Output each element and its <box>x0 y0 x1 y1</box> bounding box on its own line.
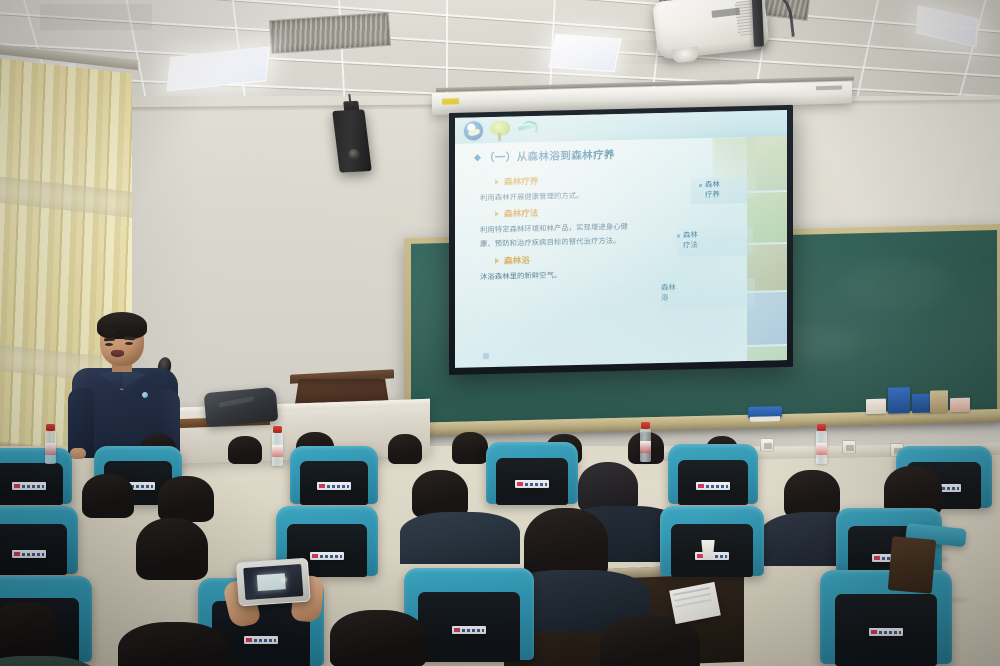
chalk-box-blue-tall[interactable] <box>888 387 910 414</box>
green-tree-icon <box>487 120 512 141</box>
slide-title: （一）从森林浴到森林疗养 <box>484 147 615 165</box>
seat-number-label <box>244 636 278 644</box>
attendee-head <box>452 432 488 464</box>
seat-number-label <box>696 482 730 490</box>
smartphone-screen <box>243 564 303 600</box>
projector-cable <box>756 0 795 40</box>
housing-brand-mark <box>816 86 842 91</box>
attendee-head <box>388 434 422 464</box>
slide-heading-2: 森林疗法 <box>495 207 538 220</box>
chalk-box-pink-small[interactable] <box>950 398 970 412</box>
board-eraser-blue[interactable] <box>748 406 782 418</box>
water-bottle-5[interactable] <box>816 430 827 464</box>
lecture-hall-photo: （一）从森林浴到森林疗养 森林疗养 利用森林开展健康管理的方式。 森林疗法 利用… <box>0 0 1000 666</box>
smartphone[interactable] <box>236 558 311 607</box>
seat-number-label <box>869 628 903 636</box>
arrow-bullet-icon <box>495 211 499 217</box>
slide-body-3-line-1: 沐浴森林里的新鲜空气。 <box>480 270 561 282</box>
slide-title-row: （一）从森林浴到森林疗养 <box>475 147 615 165</box>
seat-number-label <box>317 482 351 490</box>
green-leaf-tile-2 <box>747 346 787 368</box>
diamond-bullet-icon <box>474 154 481 161</box>
attendee-head-with-cap <box>578 462 638 512</box>
pyramid-tier-1-label: 森林 疗养 <box>699 180 720 200</box>
presenter-eye-right <box>125 342 133 345</box>
water-bottle-2[interactable] <box>45 430 56 464</box>
slide-heading-3: 森林浴 <box>495 254 530 267</box>
slide-body-1-line-1: 利用森林开展健康管理的方式。 <box>480 191 584 203</box>
lapel-pin <box>142 392 148 398</box>
tier-dot-icon <box>677 234 680 237</box>
attendee-head-photographer <box>118 622 230 666</box>
presentation-slide: （一）从森林浴到森林疗养 森林疗养 利用森林开展健康管理的方式。 森林疗法 利用… <box>455 110 787 368</box>
seat[interactable] <box>0 448 72 504</box>
water-bottle-3[interactable] <box>272 432 283 466</box>
circle-leaf-emblem-icon <box>464 121 483 140</box>
audience-seating <box>0 420 1000 666</box>
chalk-box-pink[interactable] <box>866 399 886 414</box>
attendee-head <box>136 518 208 580</box>
seat-side-panel <box>888 536 937 594</box>
seat[interactable] <box>290 446 378 504</box>
slide-heading-1: 森林疗养 <box>495 175 538 188</box>
blue-bird-icon <box>516 120 542 140</box>
arrow-bullet-icon <box>495 179 499 185</box>
presenter-hair <box>97 312 147 339</box>
slide-body-2-line-2: 康、预防和治疗疾病目标的替代治疗方法。 <box>480 236 621 249</box>
presenter-mouth <box>111 350 124 357</box>
attendee-head <box>330 610 426 666</box>
slide-footer-marker <box>483 353 489 359</box>
seat-number-label <box>12 550 46 558</box>
chalk-box-tan[interactable] <box>930 390 948 412</box>
seat[interactable] <box>486 442 578 504</box>
seat-number-label <box>452 626 486 634</box>
tier-dot-icon <box>699 184 702 187</box>
presenter-eye-left <box>105 343 113 346</box>
pyramid-tier-2-label: 森林 疗法 <box>677 230 698 250</box>
green-field-tile <box>747 192 787 243</box>
projection-screen: （一）从森林浴到森林疗养 森林疗养 利用森林开展健康管理的方式。 森林疗法 利用… <box>449 105 793 375</box>
seat-number-label <box>12 482 46 490</box>
housing-warning-label <box>442 98 459 104</box>
attendee-head <box>82 474 134 518</box>
attendee-shoulders <box>400 512 520 564</box>
pyramid-tier-3-label: 森林 浴 <box>661 283 676 303</box>
attendee-head <box>600 616 700 666</box>
attendee-head <box>784 470 840 518</box>
seat[interactable] <box>0 506 78 574</box>
seat[interactable] <box>668 444 758 504</box>
slide-body-2-line-1: 利用特定森林环境和林产品，实现增进身心健 <box>480 222 628 235</box>
phone-lens-flare <box>279 575 289 585</box>
slide-logo-group <box>464 119 542 142</box>
water-bottle-4[interactable] <box>640 428 651 462</box>
attendee-photographing-slide-with-phone <box>224 557 324 628</box>
attendee-head <box>412 470 468 518</box>
attendee-head-with-glasses <box>158 476 214 522</box>
seat-number-label <box>515 480 549 488</box>
arrow-bullet-icon <box>495 258 499 264</box>
ceiling-light-panel-2 <box>549 34 622 72</box>
chalk-box-blue[interactable] <box>912 394 932 413</box>
attendee-head <box>228 436 262 464</box>
